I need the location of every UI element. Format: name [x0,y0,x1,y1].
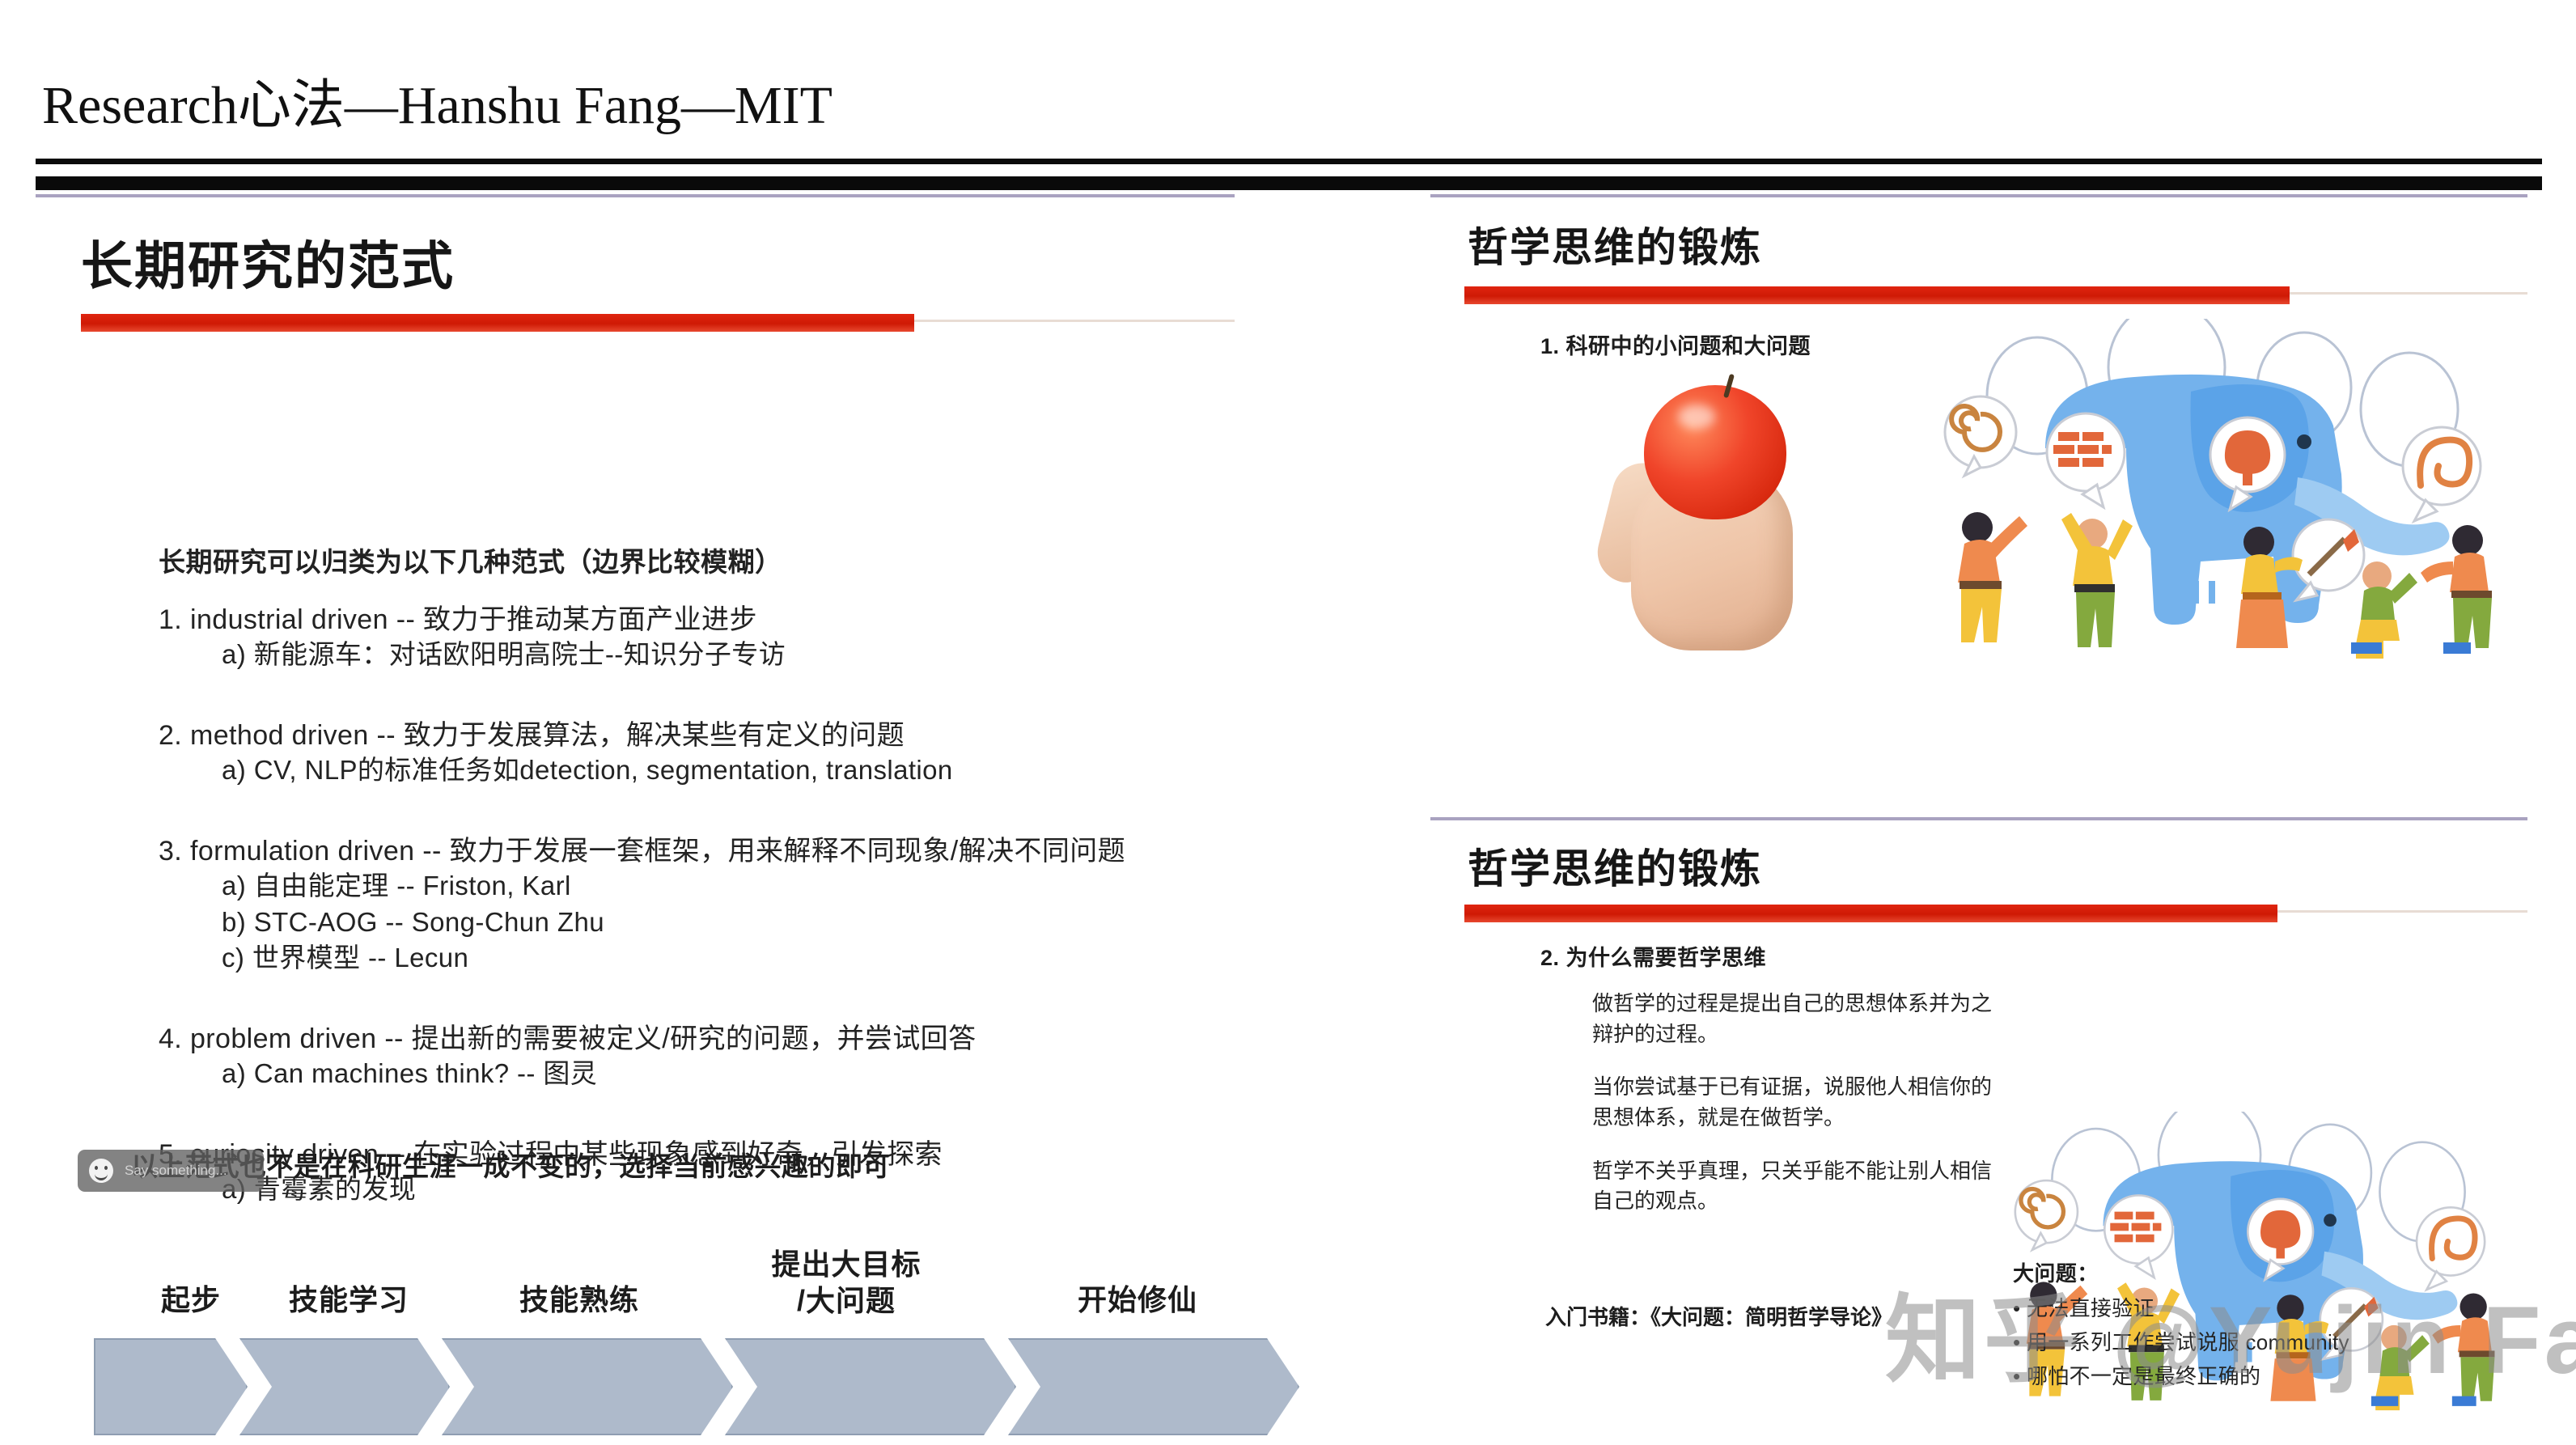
slide-left-title: 长期研究的范式 [81,225,455,299]
paradigm-item-1-title: 1. industrial driven -- 致力于推动某方面产业进步 [159,597,1235,637]
big-question-2-bullet-1: 无法直接验证 [2013,1292,2498,1322]
process-step-4-label: 提出大目标 /大问题 [725,1246,968,1319]
slide-tr-title: 哲学思维的锻炼 [1468,215,1762,273]
process-step-4-shape[interactable] [725,1338,1016,1435]
process-step-1-label: 起步 [126,1282,256,1318]
thought-bubble-rope [2015,1180,2078,1250]
big-question-column-2: 大问题： 无法直接验证 用一系列工作尝试说服 community 哪怕不一定是最… [2013,1257,2498,1394]
thought-bubble-brick-wall [2047,413,2125,507]
slide-philosophy-part-2[interactable]: 哲学思维的锻炼 2. 为什么需要哲学思维 做哲学的过程是提出自己的思想体系并为之… [1430,817,2527,1429]
spacer [159,796,1235,828]
hand-holding-apple-photo [1568,343,1875,650]
person-green-kneeling [2351,561,2417,659]
process-step-2-shape[interactable] [239,1338,450,1435]
process-step-2-label: 技能学习 [256,1282,442,1318]
paradigm-lead: 长期研究可以归类为以下几种范式（边界比较模糊） [159,540,1235,579]
apple-highlight [1678,405,1715,429]
slide-br-red-bar-tail [2277,910,2527,913]
slide-tr-red-bar-tail [2290,292,2527,295]
slide-br-title: 哲学思维的锻炼 [1468,837,1762,895]
paradigm-item-3: 3. formulation driven -- 致力于发展一套框架，用来解释不… [159,828,1235,976]
spacer [159,984,1235,1016]
paradigm-item-1-sub-a: a) 新能源车：对话欧阳明高院士--知识分子专访 [222,637,1235,672]
paradigm-item-3-sub-a: a) 自由能定理 -- Friston, Karl [222,868,1235,904]
slide-left-research-paradigms[interactable]: 长期研究的范式 长期研究可以归类为以下几种范式（边界比较模糊） 1. indus… [36,194,1235,1427]
big-question-2-bullet-2: 用一系列工作尝试说服 community [2013,1326,2498,1356]
spacer [159,680,1235,713]
philosophy-paragraphs: 做哲学的过程是提出自己的思想体系并为之 辩护的过程。 当你尝试基于已有证据，说服… [1592,989,2029,1217]
paradigm-item-3-sub-c: c) 世界模型 -- Lecun [222,940,1235,976]
slide-tr-red-bar [1464,286,2290,304]
paradigm-item-4-sub-a: a) Can machines think? -- 图灵 [222,1056,1235,1091]
paradigm-item-4-title: 4. problem driven -- 提出新的需要被定义/研究的问题，并尝试… [159,1016,1235,1056]
paradigm-item-2: 2. method driven -- 致力于发展算法，解决某些有定义的问题 a… [159,713,1235,788]
big-question-2-bullet-3: 哪怕不一定是最终正确的 [2013,1360,2498,1390]
paradigm-item-3-sub-b: b) STC-AOG -- Song-Chun Zhu [222,905,1235,940]
intro-book-text: 入门书籍：《大问题：简明哲学导论》 [1545,1301,1892,1331]
philosophy-paragraph-1: 做哲学的过程是提出自己的思想体系并为之 辩护的过程。 [1592,989,2029,1049]
process-step-5-label: 开始修仙 [1024,1282,1251,1318]
slide-left-body: 长期研究可以归类为以下几种范式（边界比较模糊） 1. industrial dr… [159,540,1235,1216]
page-title: Research心法—Hanshu Fang—MIT [42,61,833,139]
philosophy-paragraph-3: 哲学不关乎真理，只关乎能不能让别人相信 自己的观点。 [1592,1156,2029,1217]
blind-men-and-elephant-illustration [1924,319,2515,659]
smiley-icon[interactable] [89,1159,113,1183]
slide-philosophy-part-1[interactable]: 哲学思维的锻炼 1. 科研中的小问题和大问题 [1430,194,2527,819]
paradigm-item-2-title: 2. method driven -- 致力于发展算法，解决某些有定义的问题 [159,713,1235,752]
process-step-5-shape[interactable] [1008,1338,1299,1435]
paradigm-item-3-title: 3. formulation driven -- 致力于发展一套框架，用来解释不… [159,828,1235,868]
big-question-2-heading: 大问题： [2013,1257,2498,1287]
chat-input-widget[interactable]: Say something... [78,1150,264,1192]
philosophy-paragraph-2: 当你尝试基于已有证据，说服他人相信你的 思想体系，就是在做哲学。 [1592,1072,2029,1133]
title-rule-thin [36,159,2542,164]
apple-icon [1644,385,1786,519]
thought-bubble-rope [1945,396,2016,476]
person-orange-left [1958,512,2027,642]
title-rule-thick [36,176,2542,190]
paradigm-item-1: 1. industrial driven -- 致力于推动某方面产业进步 a) … [159,597,1235,672]
slide-left-red-bar-tail [914,320,1235,322]
process-step-3-shape[interactable] [442,1338,733,1435]
paradigm-item-4: 4. problem driven -- 提出新的需要被定义/研究的问题，并尝试… [159,1016,1235,1091]
slide-br-subtitle: 2. 为什么需要哲学思维 [1540,940,1766,972]
process-step-1-shape[interactable] [94,1338,248,1435]
spacer [159,1100,1235,1132]
person-yellow-left [2061,513,2133,647]
thought-bubble-snake-hook [2403,427,2481,521]
slide-br-red-bar [1464,905,2277,922]
slide-left-red-bar [81,314,914,332]
process-step-3-label: 技能熟练 [474,1282,684,1318]
chat-input-placeholder[interactable]: Say something... [125,1163,227,1179]
paradigm-item-2-sub-a: a) CV, NLP的标准任务如detection, segmentation,… [222,752,1235,788]
growth-process-diagram: 起步 技能学习 技能熟练 提出大目标 /大问题 开始修仙 [94,1338,1227,1435]
